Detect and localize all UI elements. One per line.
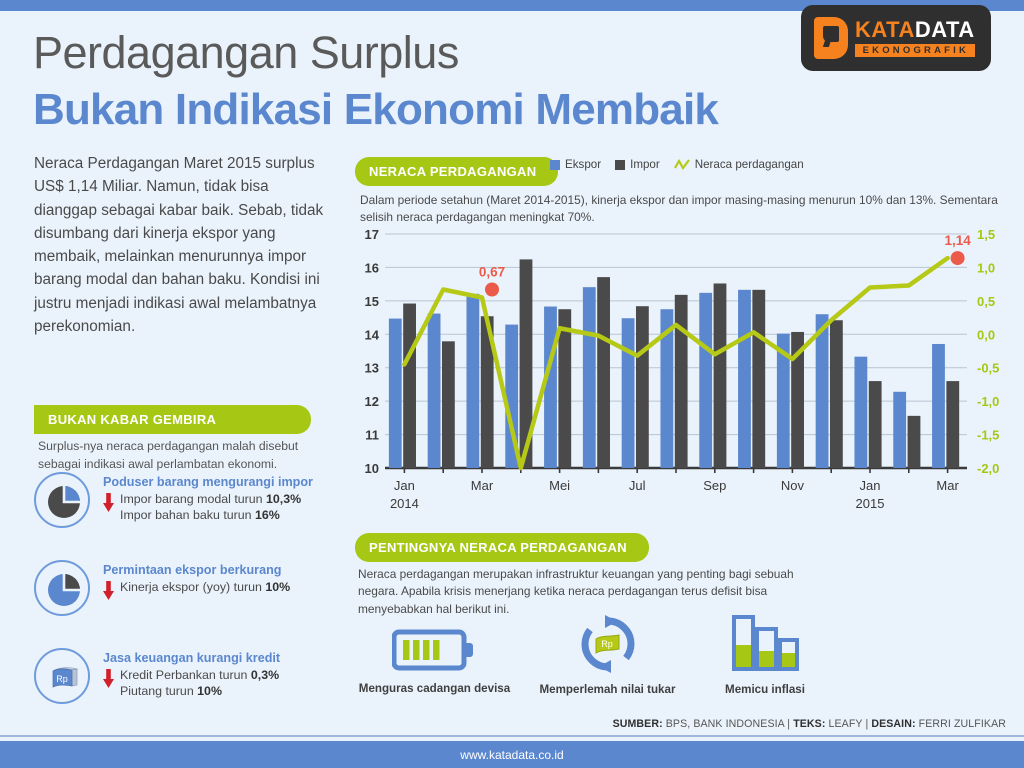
svg-text:1,14: 1,14: [944, 233, 971, 248]
legend-swatch-ekspor: [550, 160, 560, 170]
list-item: Poduser barang mengurangi impor Impor ba…: [34, 472, 313, 528]
impact-label-inflasi: Memicu inflasi: [700, 683, 830, 696]
footer-url[interactable]: www.katadata.co.id: [460, 748, 563, 762]
logo-subtitle: EKONOGRAFIK: [855, 44, 975, 57]
list-item-text: Permintaan ekspor berkurang Kinerja eksp…: [103, 560, 290, 595]
sep-1: |: [787, 718, 790, 730]
svg-text:Rp: Rp: [601, 639, 613, 649]
list-item-line: Impor bahan baku turun 16%: [120, 507, 313, 523]
list-item-rows: Kinerja ekspor (yoy) turun 10%: [103, 579, 290, 595]
arrow-down-icon: [103, 581, 114, 600]
svg-text:0,67: 0,67: [479, 264, 505, 279]
source-credits: SUMBER: BPS, BANK INDONESIA | TEKS: LEAF…: [613, 718, 1006, 730]
impact-label-nilai-tukar: Memperlemah nilai tukar: [520, 683, 695, 696]
logo-kata: KATA: [855, 17, 915, 42]
infographic-page: KATADATA EKONOGRAFIK Perdagangan Surplus…: [0, 0, 1024, 768]
svg-text:12: 12: [365, 394, 379, 409]
svg-text:11: 11: [365, 428, 379, 443]
section-header-bukan-kabar-gembira: BUKAN KABAR GEMBIRA: [34, 405, 311, 434]
svg-text:16: 16: [365, 260, 379, 275]
legend-item-impor: Impor: [615, 158, 660, 171]
svg-text:Jan: Jan: [860, 478, 881, 493]
svg-text:17: 17: [365, 228, 379, 242]
currency-exchange-cycle-icon: Rp: [577, 615, 639, 673]
line-text: Impor barang modal turun: [120, 492, 266, 506]
source-value: BPS, BANK INDONESIA: [666, 718, 784, 730]
impact-label-devisa: Menguras cadangan devisa: [357, 682, 512, 695]
list-item-rows: Kredit Perbankan turun 0,3% Piutang turu…: [103, 667, 280, 700]
section-header-pentingnya: PENTINGNYA NERACA PERDAGANGAN: [355, 533, 649, 562]
svg-text:0,0: 0,0: [977, 327, 995, 342]
list-item-text: Jasa keuangan kurangi kredit Kredit Perb…: [103, 648, 280, 700]
chart-legend: Ekspor Impor Neraca perdagangan: [550, 158, 804, 171]
arrow-down-icon: [103, 493, 114, 512]
source-label: SUMBER:: [613, 718, 663, 730]
svg-text:Rp: Rp: [56, 674, 68, 684]
svg-text:10: 10: [365, 461, 379, 476]
legend-label-impor: Impor: [630, 158, 660, 171]
pie-chart-dark-majority-icon: [44, 482, 84, 522]
svg-text:Mar: Mar: [936, 478, 959, 493]
line-text: Kinerja ekspor (yoy) turun: [120, 580, 265, 594]
list-item-text: Poduser barang mengurangi impor Impor ba…: [103, 472, 313, 524]
svg-text:13: 13: [365, 361, 379, 376]
svg-text:1,5: 1,5: [977, 228, 995, 242]
line-value: 10%: [197, 684, 222, 698]
desain-value: FERRI ZULFIKAR: [919, 718, 1006, 730]
impact-item-nilai-tukar: Rp Memperlemah nilai tukar: [520, 615, 695, 696]
list-item-line: Kinerja ekspor (yoy) turun 10%: [120, 579, 290, 595]
money-rupiah-icon: Rp: [44, 658, 84, 698]
legend-label-ekspor: Ekspor: [565, 158, 601, 171]
svg-text:2014: 2014: [390, 496, 419, 511]
list-item-title: Permintaan ekspor berkurang: [103, 563, 290, 577]
page-title-line1: Perdagangan Surplus: [33, 27, 459, 79]
svg-text:-1,5: -1,5: [977, 428, 999, 443]
footer-bar: www.katadata.co.id: [0, 741, 1024, 768]
list-item-line: Kredit Perbankan turun 0,3%: [120, 667, 280, 683]
line-text: Kredit Perbankan turun: [120, 668, 251, 682]
list-item-line: Piutang turun 10%: [120, 683, 280, 699]
intro-paragraph: Neraca Perdagangan Maret 2015 surplus US…: [34, 152, 334, 338]
line-text: Piutang turun: [120, 684, 197, 698]
svg-text:2015: 2015: [856, 496, 885, 511]
legend-item-neraca: Neraca perdagangan: [674, 158, 804, 171]
katadata-logo[interactable]: KATADATA EKONOGRAFIK: [801, 5, 991, 71]
line-value: 10%: [265, 580, 290, 594]
list-item-line: Impor barang modal turun 10,3%: [120, 491, 313, 507]
pentingnya-description: Neraca perdagangan merupakan infrastrukt…: [358, 566, 833, 618]
page-title-line2: Bukan Indikasi Ekonomi Membaik: [33, 85, 718, 135]
svg-text:-1,0: -1,0: [977, 394, 999, 409]
svg-text:Mei: Mei: [549, 478, 570, 493]
svg-text:-0,5: -0,5: [977, 361, 999, 376]
svg-text:Nov: Nov: [781, 478, 805, 493]
icon-frame: [34, 560, 90, 616]
svg-text:0,5: 0,5: [977, 294, 995, 309]
line-marker-icon: [674, 159, 690, 170]
line-value: 10,3%: [266, 492, 301, 506]
svg-text:15: 15: [365, 294, 379, 309]
legend-swatch-impor: [615, 160, 625, 170]
list-item-title: Poduser barang mengurangi impor: [103, 475, 313, 489]
list-item-title: Jasa keuangan kurangi kredit: [103, 651, 280, 665]
icon-frame: Rp: [34, 648, 90, 704]
list-item-rows: Impor barang modal turun 10,3% Impor bah…: [103, 491, 313, 524]
bar-chart-inflation-icon: [730, 615, 800, 673]
icon-frame: [34, 472, 90, 528]
list-item: Rp Jasa keuangan kurangi kredit Kredit P…: [34, 648, 280, 704]
footer-divider: [0, 735, 1024, 737]
line-text: Impor bahan baku turun: [120, 508, 255, 522]
list-item: Permintaan ekspor berkurang Kinerja eksp…: [34, 560, 290, 616]
legend-item-ekspor: Ekspor: [550, 158, 601, 171]
sep-2: |: [865, 718, 868, 730]
teks-label: TEKS:: [793, 718, 825, 730]
svg-text:-2,0: -2,0: [977, 461, 999, 476]
impact-item-devisa: Menguras cadangan devisa: [357, 628, 512, 695]
katadata-d-icon: [814, 17, 848, 59]
line-value: 0,3%: [251, 668, 279, 682]
teks-value: LEAFY: [829, 718, 863, 730]
svg-text:14: 14: [365, 327, 380, 342]
neraca-description: Dalam periode setahun (Maret 2014-2015),…: [360, 192, 1010, 227]
neraca-perdagangan-chart: 1011121314151617-2,0-1,5-1,0-0,50,00,51,…: [355, 228, 1010, 518]
svg-text:Jul: Jul: [629, 478, 646, 493]
svg-text:Jan: Jan: [394, 478, 415, 493]
svg-text:Mar: Mar: [471, 478, 494, 493]
legend-label-neraca: Neraca perdagangan: [695, 158, 804, 171]
logo-text: KATADATA EKONOGRAFIK: [855, 19, 975, 57]
bukan-kabar-gembira-subtitle: Surplus-nya neraca perdagangan malah dis…: [38, 438, 338, 473]
desain-label: DESAIN:: [871, 718, 915, 730]
section-header-neraca-perdagangan: NERACA PERDAGANGAN: [355, 157, 558, 186]
svg-text:1,0: 1,0: [977, 260, 995, 275]
logo-data: DATA: [915, 17, 975, 42]
pie-chart-blue-majority-icon: [44, 570, 84, 610]
arrow-down-icon: [103, 669, 114, 688]
svg-text:Sep: Sep: [703, 478, 726, 493]
line-value: 16%: [255, 508, 280, 522]
impact-item-inflasi: Memicu inflasi: [700, 615, 830, 696]
battery-icon: [392, 628, 478, 672]
